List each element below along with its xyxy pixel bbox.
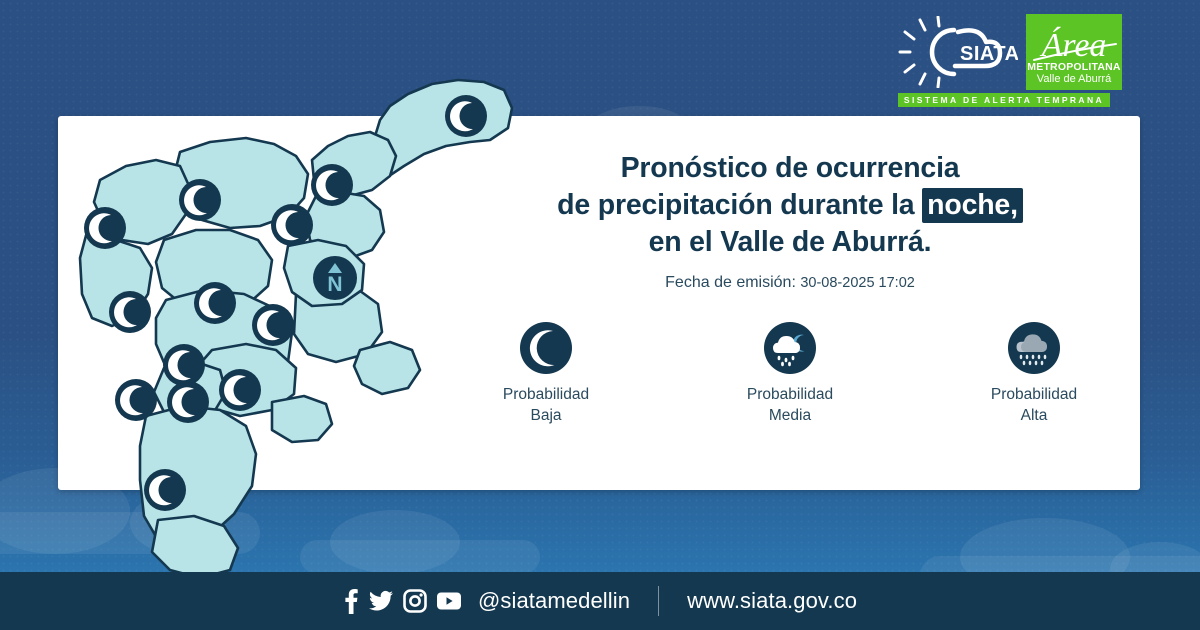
legend-baja-line1: Probabilidad <box>503 386 589 403</box>
emission-label: Fecha de emisión: <box>665 274 796 291</box>
logo-group: SIATA Área METROPOLITANA Valle de Aburrá… <box>898 14 1122 107</box>
map-marker-moon[interactable] <box>271 204 313 246</box>
emission-value: 30-08-2025 17:02 <box>800 275 915 291</box>
map-marker-moon[interactable] <box>167 381 209 423</box>
website-url[interactable]: www.siata.gov.co <box>687 588 857 614</box>
title-line-2: de precipitación durante la noche, <box>470 187 1110 224</box>
title-line-3: en el Valle de Aburrá. <box>470 224 1110 261</box>
legend-label-baja: Probabilidad Baja <box>503 385 589 427</box>
forecast-panel: Pronóstico de ocurrencia de precipitació… <box>470 150 1110 427</box>
cloud-moon-rain-icon <box>764 322 816 374</box>
page-title: Pronóstico de ocurrencia de precipitació… <box>470 150 1110 261</box>
siata-tagline: SISTEMA DE ALERTA TEMPRANA <box>898 93 1110 107</box>
area-metropolitana-logo: Área METROPOLITANA Valle de Aburrá <box>1026 14 1122 90</box>
twitter-icon[interactable] <box>368 588 394 614</box>
cloud-heavy-rain-icon <box>1008 322 1060 374</box>
emission-date: Fecha de emisión: 30-08-2025 17:02 <box>470 274 1110 292</box>
social-handle[interactable]: @siatamedellin <box>478 588 630 614</box>
legend-label-alta: Probabilidad Alta <box>991 385 1077 427</box>
instagram-icon[interactable] <box>403 589 427 613</box>
siata-logo: SIATA <box>898 16 1018 88</box>
map-marker-moon[interactable] <box>144 469 186 511</box>
social-links <box>343 588 462 614</box>
map-marker-moon[interactable] <box>252 304 294 346</box>
map-marker-moon[interactable] <box>109 291 151 333</box>
youtube-icon[interactable] <box>436 591 462 611</box>
north-arrow-icon <box>313 256 357 300</box>
legend-media-line2: Media <box>769 407 811 424</box>
title-highlight: noche, <box>922 188 1023 223</box>
footer-divider <box>658 586 659 616</box>
map-marker-moon[interactable] <box>311 164 353 206</box>
legend-alta-line2: Alta <box>1021 407 1048 424</box>
valle-de-aburra-map: N <box>60 50 520 570</box>
legend-item-baja: Probabilidad Baja <box>480 322 612 427</box>
area-script-icon: Área <box>1026 16 1122 68</box>
legend-alta-line1: Probabilidad <box>991 386 1077 403</box>
map-marker-moon[interactable] <box>194 282 236 324</box>
municipality-polygons <box>80 80 512 578</box>
facebook-icon[interactable] <box>343 588 359 614</box>
area-script-text: Área <box>1040 27 1107 64</box>
siata-wordmark: SIATA <box>960 43 1018 65</box>
map-svg: N <box>60 50 520 570</box>
legend-item-media: Probabilidad Media <box>724 322 856 427</box>
map-marker-moon[interactable] <box>163 344 205 386</box>
legend-baja-line2: Baja <box>530 407 561 424</box>
moon-icon <box>520 322 572 374</box>
map-marker-moon[interactable] <box>84 207 126 249</box>
area-logo-line2: Valle de Aburrá <box>1037 73 1111 86</box>
title-line-2-text: de precipitación durante la <box>557 189 922 221</box>
footer-bar: @siatamedellin www.siata.gov.co <box>0 572 1200 630</box>
map-marker-moon[interactable] <box>219 369 261 411</box>
legend-media-line1: Probabilidad <box>747 386 833 403</box>
map-marker-moon[interactable] <box>179 179 221 221</box>
legend-item-alta: Probabilidad Alta <box>968 322 1100 427</box>
title-line-1: Pronóstico de ocurrencia <box>470 150 1110 187</box>
legend-label-media: Probabilidad Media <box>747 385 833 427</box>
probability-legend: Probabilidad Baja Probabilidad Media <box>470 322 1110 427</box>
map-marker-moon[interactable] <box>445 95 487 137</box>
map-marker-moon[interactable] <box>115 379 157 421</box>
